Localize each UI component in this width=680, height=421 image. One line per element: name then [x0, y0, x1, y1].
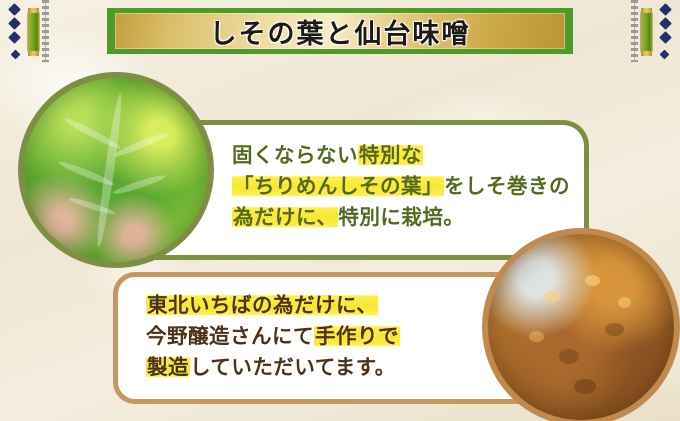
callout-line: 為だけに、特別に栽培。: [232, 202, 570, 233]
text-plain: をしそ巻きの: [444, 174, 570, 198]
miso-grain: [574, 379, 596, 394]
shiso-leaf-photo: [18, 72, 214, 268]
chain-line-icon: [45, 0, 46, 62]
scroll-rod-icon: [28, 12, 39, 52]
text-highlighted: 為だけに、: [232, 205, 338, 229]
sendai-miso-photo: [482, 228, 680, 421]
text-highlighted: 製造: [146, 355, 190, 379]
callout-line: 今野醸造さんにて手作りで: [146, 321, 400, 352]
rod-cap-icon: [641, 51, 652, 56]
shiso-callout-text: 固くならない特別な 「ちりめんしその葉」をしそ巻きの 為だけに、特別に栽培。: [232, 140, 570, 233]
scroll-rod-icon: [641, 12, 652, 52]
rod-cap-icon: [28, 51, 39, 56]
diamond-ornament-icon: [659, 3, 672, 16]
leaf-vein: [94, 93, 125, 247]
text-plain: 特別に栽培。: [338, 205, 464, 229]
rod-cap-icon: [28, 8, 39, 13]
product-banner: しその葉と仙台味噌 固くならない特別な 「ちりめんしその葉」をしそ巻きの 為だけ…: [0, 0, 680, 421]
callout-line: 製造していただいてます。: [146, 352, 400, 383]
miso-grain: [559, 349, 579, 364]
diamond-ornament-icon: [659, 31, 672, 44]
diamond-ornament-icon: [8, 17, 21, 30]
page-title: しその葉と仙台味噌: [210, 12, 471, 51]
miso-callout-text: 東北いちばの為だけに、 今野醸造さんにて手作りで 製造していただいてます。: [146, 290, 400, 383]
leaf-vein: [113, 130, 170, 159]
miso-grain: [605, 323, 624, 336]
callout-line: 「ちりめんしその葉」をしそ巻きの: [232, 171, 570, 202]
text-highlighted: 手作りで: [314, 324, 400, 348]
miso-grain: [544, 290, 561, 303]
diamond-ornament-icon: [659, 17, 672, 30]
title-bar: しその葉と仙台味噌: [107, 8, 573, 54]
rod-cap-icon: [641, 8, 652, 13]
chain-line-icon: [634, 0, 635, 62]
miso-grain: [618, 297, 631, 308]
miso-grain: [585, 275, 600, 286]
leaf-vein: [113, 173, 168, 197]
text-plain: していただいてます。: [190, 355, 396, 379]
banner-header: しその葉と仙台味噌: [0, 0, 680, 62]
text-plain: 今野醸造さんにて: [146, 324, 314, 348]
callout-line: 東北いちばの為だけに、: [146, 290, 400, 321]
diamond-ornament-icon: [660, 50, 670, 60]
diamond-ornament-icon: [8, 31, 21, 44]
callout-line: 固くならない特別な: [232, 140, 570, 171]
miso-grain: [529, 331, 544, 342]
text-plain: 固くならない: [232, 143, 358, 167]
diamond-ornament-icon: [11, 50, 21, 60]
text-highlighted: 特別な: [358, 143, 423, 167]
diamond-ornament-icon: [8, 3, 21, 16]
text-highlighted: 東北いちばの為だけに、: [146, 293, 378, 317]
text-highlighted: 「ちりめんしその葉」: [232, 174, 444, 198]
